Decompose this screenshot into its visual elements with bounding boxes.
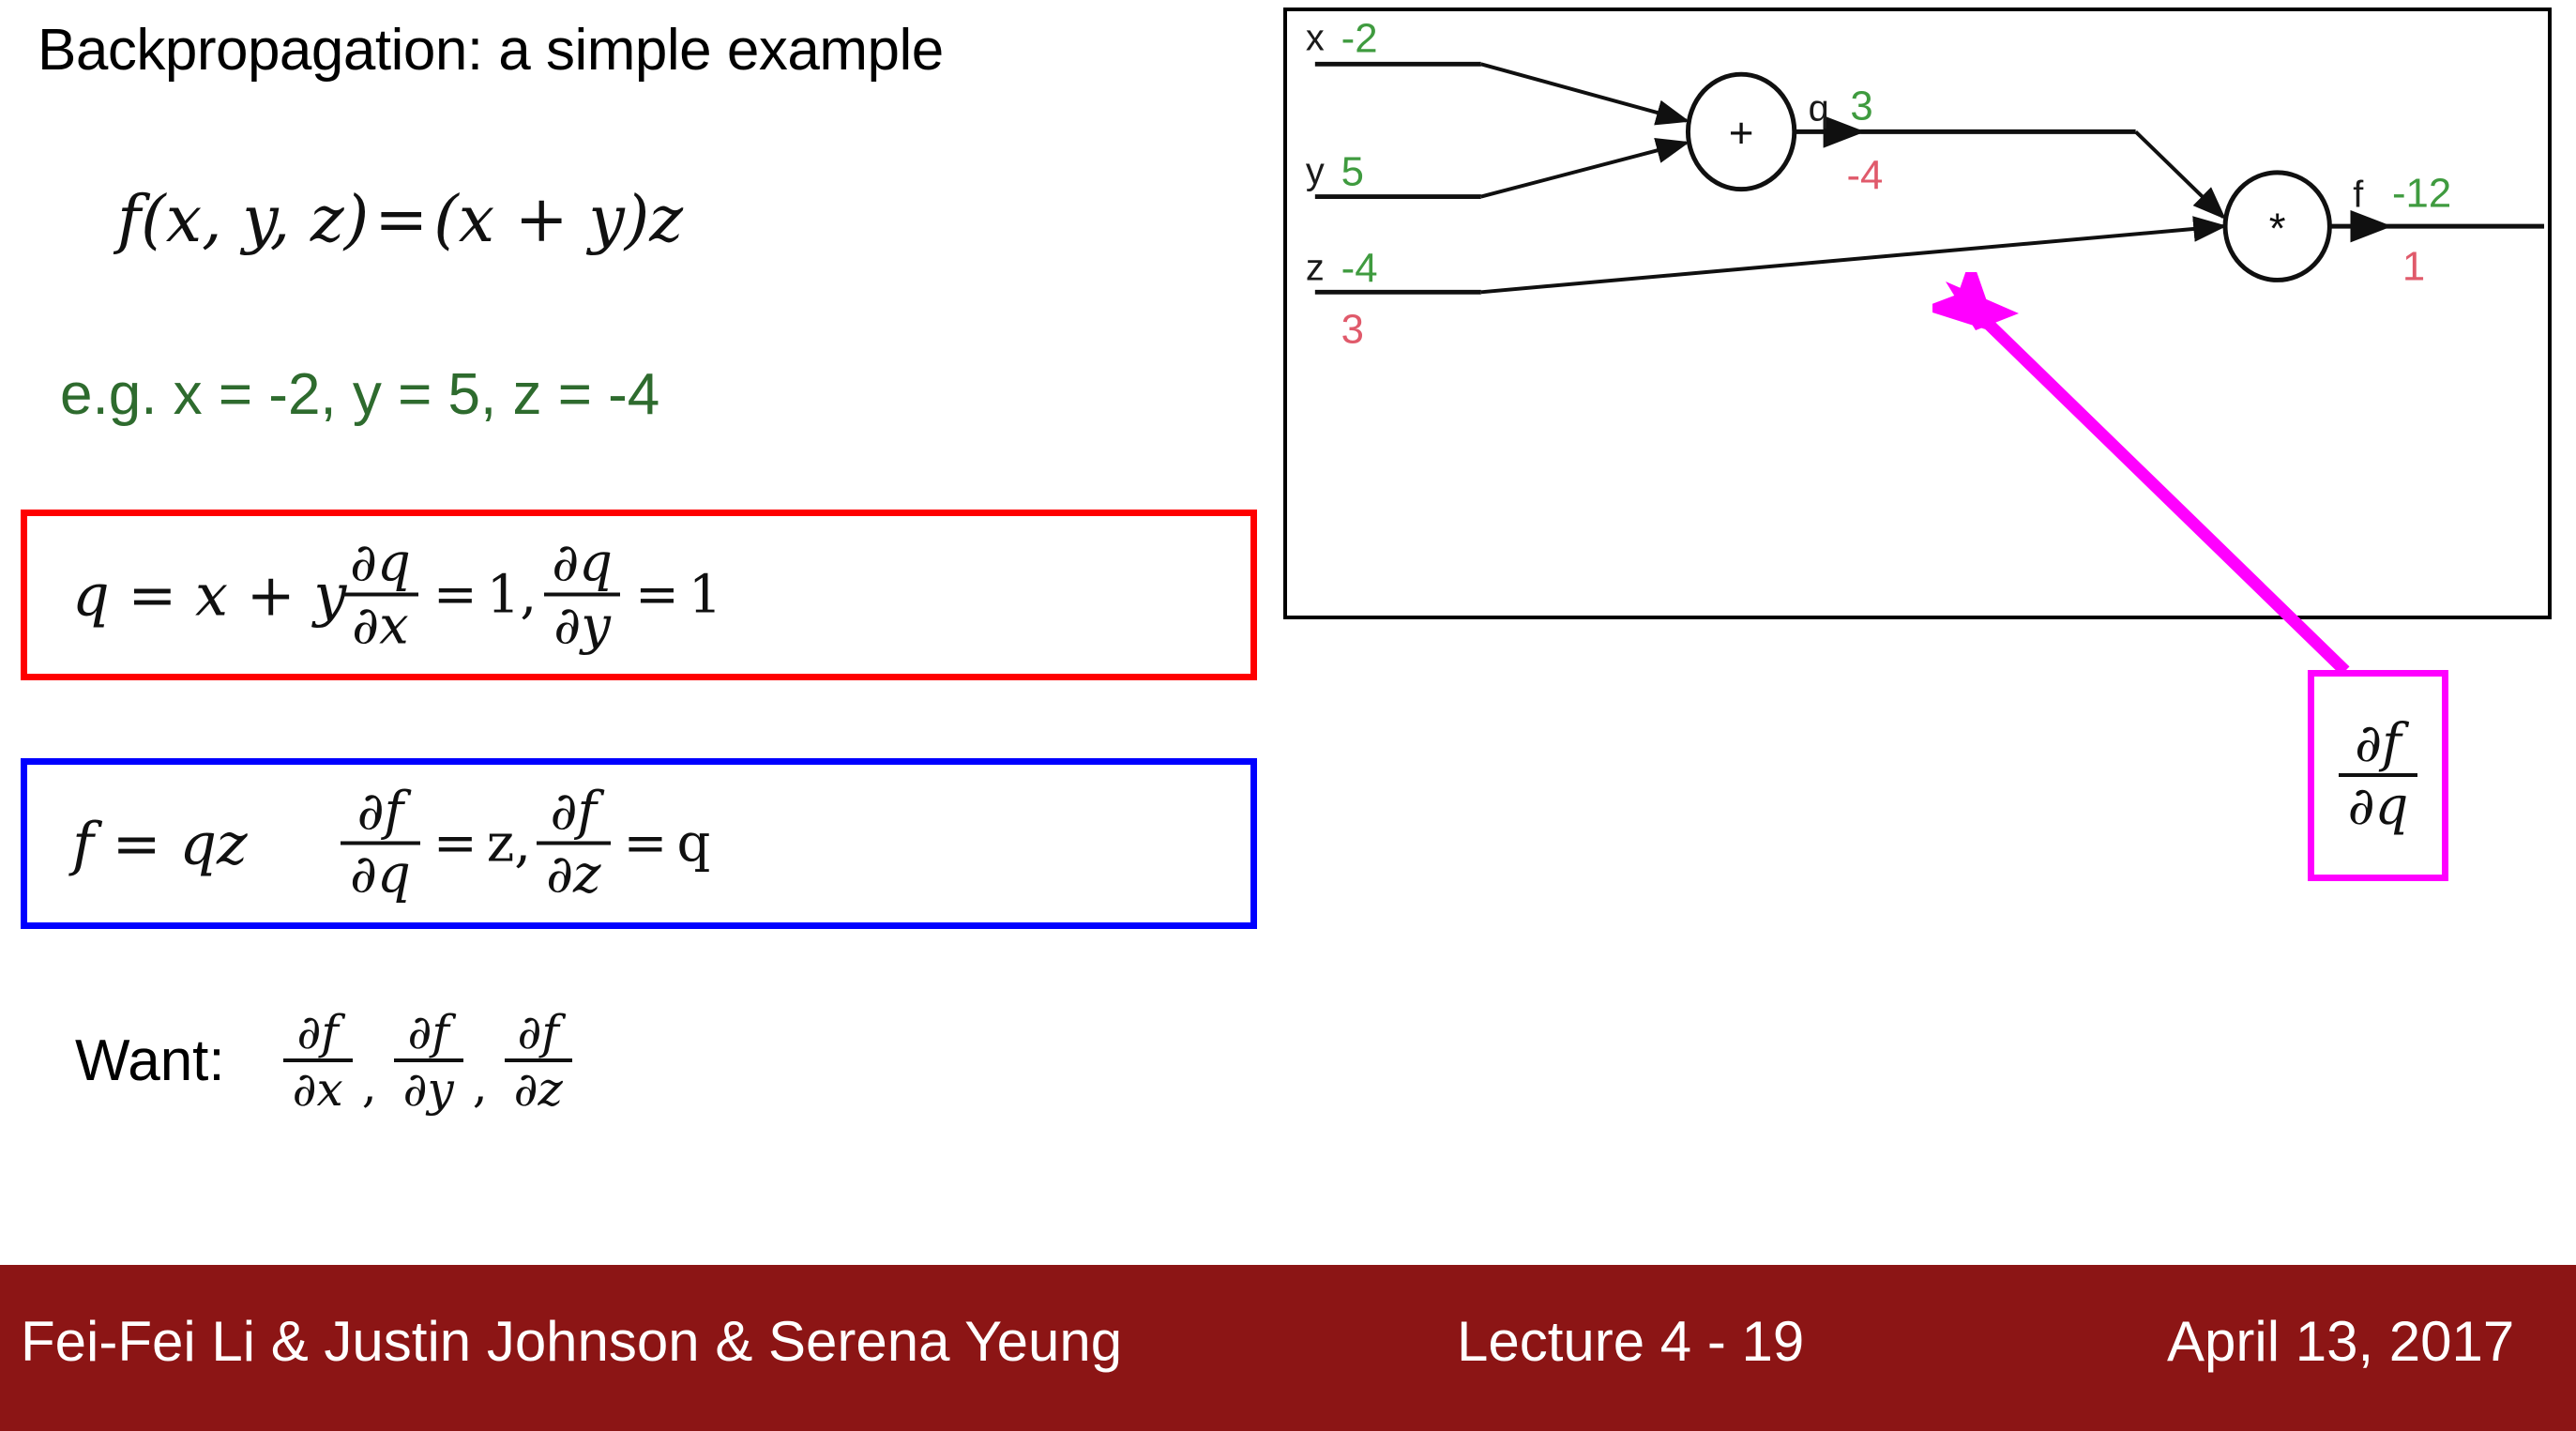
computational-graph-panel: + * x -2 y 5 z -4 3 q 3 -4 f -12 1: [1283, 8, 2552, 619]
edge-forward-value-f: -12: [2392, 172, 2451, 217]
footer-bar: Fei-Fei Li & Justin Johnson & Serena Yeu…: [0, 1265, 2576, 1431]
fraction-dq-dy: ∂q ∂y: [542, 538, 622, 653]
fraction-numerator: ∂q: [542, 538, 622, 593]
edge-x-to-add: [1481, 64, 1687, 120]
equation-row-f: f = qz ∂f ∂q = z , ∂f ∂z = q: [27, 765, 1250, 922]
edge-gradient-value-f: 1: [2402, 245, 2425, 290]
fraction-denominator: ∂q: [2339, 773, 2418, 833]
fraction-denominator: ∂z: [505, 1058, 572, 1113]
equals-sign: =: [424, 814, 487, 875]
equation-f-derivatives: ∂f ∂q = z , ∂f ∂z = q: [337, 786, 710, 902]
fraction-denominator: ∂x: [283, 1058, 353, 1113]
footer-date: April 13, 2017: [2167, 1309, 2514, 1374]
comma-separator: ,: [356, 1042, 390, 1113]
input-forward-value-y: 5: [1341, 150, 1364, 195]
equation-q-derivatives: ∂q ∂x = 1 , ∂q ∂y = 1: [337, 538, 722, 653]
input-label-z: z: [1306, 248, 1325, 289]
input-forward-value-z: -4: [1341, 247, 1378, 292]
main-formula-lhs: f(x, y, z): [117, 183, 369, 257]
main-formula-equals: =: [369, 183, 433, 257]
input-label-x: x: [1306, 18, 1325, 59]
equation-box-f: f = qz ∂f ∂q = z , ∂f ∂z = q: [21, 758, 1257, 929]
derivative-value: 1: [689, 565, 722, 626]
page-title: Backpropagation: a simple example: [38, 17, 944, 84]
fraction-denominator: ∂q: [341, 842, 420, 902]
fraction-dq-dx: ∂q ∂x: [341, 538, 420, 653]
main-formula-rhs: (x + y)z: [433, 183, 683, 257]
footer-authors: Fei-Fei Li & Justin Johnson & Serena Yeu…: [21, 1309, 1122, 1374]
fraction-numerator: ∂f: [398, 1009, 458, 1058]
fraction-df-dx: ∂f ∂x: [283, 1009, 353, 1113]
node-mul-glyph: *: [2269, 205, 2286, 252]
computational-graph-svg: + * x -2 y 5 z -4 3 q 3 -4 f -12 1: [1287, 11, 2548, 616]
comma-separator: ,: [467, 1042, 501, 1113]
edge-y-to-add: [1481, 143, 1687, 196]
fraction-numerator: ∂q: [341, 538, 420, 593]
input-label-y: y: [1306, 151, 1325, 192]
fraction-numerator: ∂f: [348, 786, 414, 842]
fraction-numerator: ∂f: [540, 786, 606, 842]
want-derivative-list: ∂f ∂x , ∂f ∂y , ∂f ∂z: [280, 1009, 576, 1113]
fraction-df-dy: ∂f ∂y: [394, 1009, 463, 1113]
fraction-denominator: ∂y: [394, 1058, 463, 1113]
want-row: Want: ∂f ∂x , ∂f ∂y , ∂f ∂z: [75, 1009, 576, 1113]
derivative-value: z: [487, 814, 515, 875]
fraction-numerator: ∂f: [508, 1009, 568, 1058]
want-label: Want:: [75, 1028, 225, 1094]
fraction-denominator: ∂x: [342, 593, 418, 653]
footer-lecture-number: Lecture 4 - 19: [1457, 1309, 1804, 1374]
equals-sign: =: [626, 565, 689, 626]
derivative-value: 1: [487, 565, 521, 626]
example-values: e.g. x = -2, y = 5, z = -4: [60, 361, 659, 428]
input-gradient-value-z: 3: [1341, 308, 1364, 353]
fraction-numerator: ∂f: [2345, 718, 2411, 773]
main-formula: f(x, y, z)=(x + y)z: [117, 183, 683, 257]
edge-forward-value-q: 3: [1850, 84, 1872, 129]
fraction-denominator: ∂y: [544, 593, 620, 653]
equation-row-q: q = x + y ∂q ∂x = 1 , ∂q ∂y = 1: [27, 516, 1250, 674]
gradient-annotation-box: ∂f ∂q: [2308, 670, 2448, 881]
comma-separator: ,: [520, 565, 538, 626]
input-forward-value-x: -2: [1341, 17, 1378, 62]
fraction-df-dq-annotation: ∂f ∂q: [2339, 718, 2418, 833]
fraction-df-dq: ∂f ∂q: [341, 786, 420, 902]
fraction-df-dz: ∂f ∂z: [537, 786, 610, 902]
equals-sign: =: [424, 565, 487, 626]
edge-q-to-mul: [2136, 131, 2223, 217]
derivative-value: q: [676, 814, 710, 875]
edge-z-to-mul: [1481, 226, 2223, 292]
fraction-df-dz: ∂f ∂z: [505, 1009, 572, 1113]
equation-box-q: q = x + y ∂q ∂x = 1 , ∂q ∂y = 1: [21, 510, 1257, 680]
equation-q-lhs: q = x + y: [72, 561, 346, 630]
comma-separator: ,: [514, 814, 533, 875]
fraction-numerator: ∂f: [287, 1009, 347, 1058]
edge-gradient-value-q: -4: [1846, 154, 1883, 199]
edge-label-q: q: [1809, 88, 1829, 129]
fraction-denominator: ∂z: [537, 842, 610, 902]
edge-label-f: f: [2353, 175, 2364, 216]
equals-sign: =: [614, 814, 677, 875]
equation-f-lhs: f = qz: [72, 810, 248, 878]
node-add-glyph: +: [1729, 109, 1754, 157]
